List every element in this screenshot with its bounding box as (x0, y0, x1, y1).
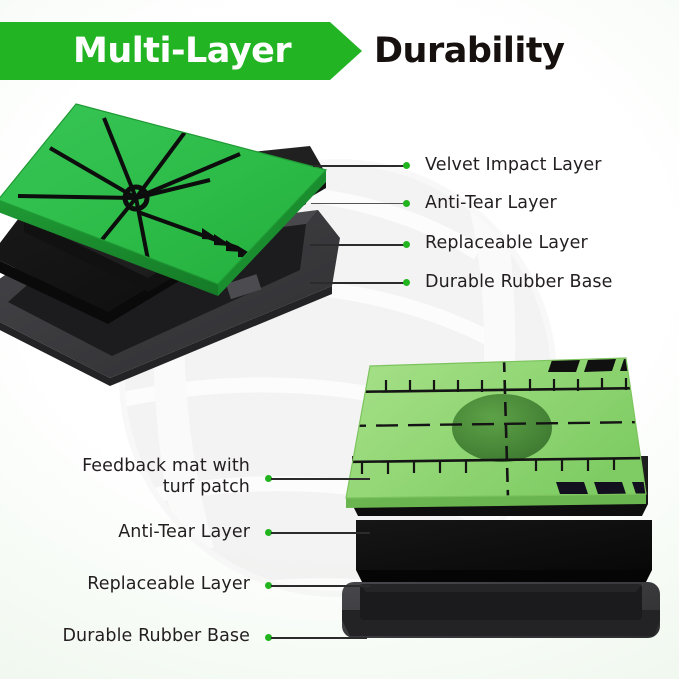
layer-replaceable-bottom (356, 520, 652, 582)
velvet-impact-mat-exploded-view (0, 88, 348, 388)
leader-line-rubber-base-bottom (271, 637, 367, 639)
label-replaceable-layer-bottom: Replaceable Layer (50, 574, 250, 594)
leader-line-anti-tear (311, 203, 407, 204)
leader-line-feedback-mat (271, 478, 370, 480)
infographic-page: Multi-Layer Durability (0, 0, 679, 679)
leader-dot-anti-tear (403, 200, 410, 207)
leader-dot-replaceable (403, 241, 410, 248)
label-feedback-mat-line2: turf patch (163, 477, 250, 497)
label-replaceable-layer: Replaceable Layer (425, 233, 588, 253)
label-velvet-impact-layer: Velvet Impact Layer (425, 155, 602, 175)
header: Multi-Layer Durability (0, 22, 679, 80)
label-anti-tear-layer: Anti-Tear Layer (425, 193, 557, 213)
header-banner-text: Multi-Layer (73, 31, 291, 71)
leader-line-rubber-base (310, 282, 407, 284)
header-title: Durability (374, 22, 564, 80)
leader-line-replaceable-bottom (271, 585, 370, 587)
leader-dot-velvet (403, 162, 410, 169)
label-feedback-mat-line1: Feedback mat with (82, 456, 250, 476)
leader-line-velvet (313, 165, 407, 167)
label-durable-rubber-base: Durable Rubber Base (425, 272, 613, 292)
layer-feedback-mat (344, 358, 664, 508)
label-anti-tear-layer-bottom: Anti-Tear Layer (50, 522, 250, 542)
layer-rubber-base-bottom (342, 582, 660, 638)
label-durable-rubber-base-bottom: Durable Rubber Base (40, 626, 250, 646)
leader-dot-rubber-base (403, 279, 410, 286)
feedback-mat-exploded-view (336, 344, 679, 674)
leader-line-anti-tear-bottom (271, 532, 370, 534)
label-feedback-mat: Feedback mat withturf patch (50, 456, 250, 498)
header-banner: Multi-Layer (0, 22, 362, 80)
leader-line-replaceable (310, 244, 407, 246)
